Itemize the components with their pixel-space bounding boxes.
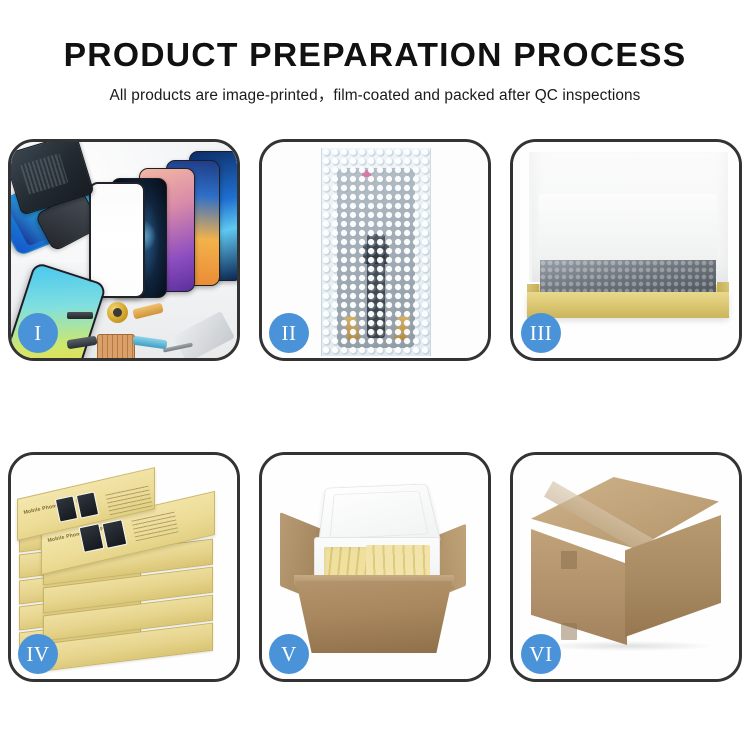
step-badge-3: III	[521, 313, 561, 353]
bubble-wrapped-contents	[540, 260, 716, 294]
process-step-panel-3: III	[510, 139, 742, 361]
step-badge-6: VI	[521, 634, 561, 674]
carton-body	[296, 581, 452, 653]
box-foam-sheet	[539, 194, 717, 270]
process-step-grid: I II	[8, 139, 742, 684]
earpiece-bar-part	[67, 312, 93, 319]
step-badge-5: V	[269, 634, 309, 674]
page-subtitle: All products are image-printed，film-coat…	[0, 74, 750, 105]
process-step-panel-5: V	[259, 452, 491, 682]
speaker-coil-part	[107, 302, 128, 323]
step-badge-2: II	[269, 313, 309, 353]
bubble-wrap-bag	[321, 148, 431, 356]
step-badge-4: IV	[18, 634, 58, 674]
process-step-panel-6: VI	[510, 452, 742, 682]
phone-front-glass	[89, 182, 145, 298]
page-header: PRODUCT PREPARATION PROCESS All products…	[0, 0, 750, 105]
bubble-texture	[322, 148, 430, 356]
box-front-panel	[527, 292, 729, 318]
page-title: PRODUCT PREPARATION PROCESS	[0, 0, 750, 74]
process-step-panel-1: I	[8, 139, 240, 361]
connector-grid-part	[97, 334, 135, 358]
carton-seam-lower	[561, 623, 577, 640]
carton-shadow	[539, 641, 715, 651]
process-step-panel-2: II	[259, 139, 491, 361]
carton-seam-upper	[561, 551, 577, 569]
process-step-panel-4: Mobile Phone Spare Parts Mobile Phone Sp…	[8, 452, 240, 682]
step-badge-1: I	[18, 313, 58, 353]
